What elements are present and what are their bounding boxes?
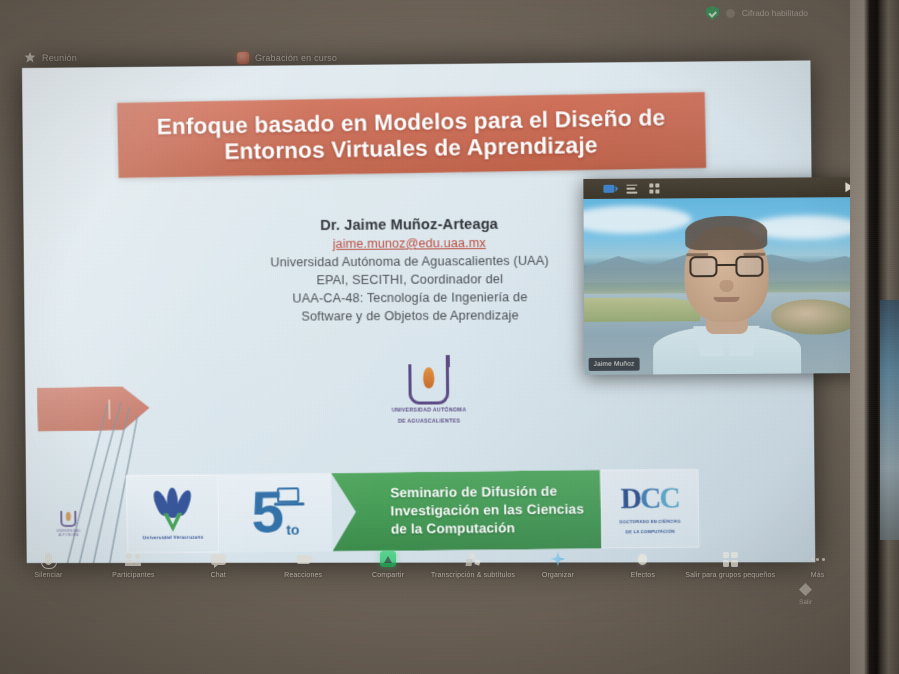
- dcc-letter-1: D: [620, 483, 640, 517]
- recording-label: Grabación en curso: [255, 53, 337, 63]
- toolbar-label-effects: Efectos: [631, 572, 655, 579]
- pip-toolbar: [583, 177, 867, 199]
- event-title-line-3: de la Computación: [391, 519, 585, 539]
- toolbar-label-transcription: Transcripción & subtítulos: [431, 572, 515, 579]
- author-name: Dr. Jaime Muñoz-Arteaga: [172, 216, 648, 235]
- universidad-veracruzana-logo: Universidad Veracruzana: [126, 474, 220, 553]
- uaa-logo-caption-1: UNIVERSIDAD AUTÓNOMA: [385, 407, 472, 415]
- toolbar-button-reactions[interactable]: Reacciones: [261, 550, 346, 579]
- slide-title-line-2: Entornos Virtuales de Aprendizaje: [224, 132, 598, 164]
- effects-icon: [638, 550, 647, 568]
- secure-label: Cifrado habilitado: [742, 8, 808, 18]
- camera-icon: [297, 550, 310, 568]
- meeting-star-icon: [24, 52, 36, 64]
- decorative-arrow-shape: [37, 386, 150, 432]
- toolbar-label-more: Más: [811, 572, 825, 579]
- fleur-de-lis-icon: [155, 488, 190, 532]
- toolbar-button-more[interactable]: Más: [775, 550, 860, 579]
- author-block: Dr. Jaime Muñoz-Arteaga jaime.munoz@edu.…: [172, 216, 649, 325]
- dcc-letter-3: C: [659, 482, 679, 516]
- toolbar-button-organize[interactable]: Organizar: [515, 550, 600, 579]
- uv-logo-caption: Universidad Veracruzana: [143, 535, 204, 541]
- edition-ordinal-suffix: to: [286, 522, 300, 538]
- microphone-icon: [45, 550, 52, 568]
- dcc-letter-2: C: [640, 483, 660, 517]
- author-email-link[interactable]: jaime.munoz@edu.uaa.mx: [172, 235, 648, 252]
- affiliation-line-1: Universidad Autónoma de Aguascalientes (…: [172, 253, 648, 270]
- participant-nametag: Jaime Muñoz: [589, 358, 640, 371]
- toolbar-label-share: Compartir: [372, 572, 404, 579]
- toolbar-label-reactions: Reacciones: [284, 572, 322, 579]
- dcc-logo: D C C DOCTORADO EN CIENCIAS DE LA COMPUT…: [600, 469, 700, 549]
- meeting-label: Reunión: [42, 53, 77, 63]
- webcam-pip-window[interactable]: Jaime Muñoz: [583, 177, 868, 375]
- share-screen-icon: [380, 550, 396, 568]
- meeting-toolbar: Silenciar Participantes Chat Reacciones …: [0, 550, 860, 602]
- event-banner: Universidad Veracruzana 5 to Seminario d…: [126, 469, 700, 554]
- laptop-icon: [277, 487, 299, 502]
- affiliation-line-3: UAA-CA-48: Tecnología de Ingeniería de: [173, 289, 649, 306]
- video-icon[interactable]: [603, 185, 614, 193]
- uaa-watermark-caption: UNIVERSIDAD AUTÓNOMA: [46, 529, 90, 537]
- glasses-icon: [689, 256, 763, 279]
- recording-status-chip[interactable]: Grabación en curso: [237, 52, 337, 64]
- shield-check-icon: [706, 6, 719, 20]
- meeting-status-chip[interactable]: Reunión: [24, 52, 77, 64]
- affiliation-line-4: Software y de Objetos de Aprendizaje: [173, 308, 649, 325]
- participants-icon: [125, 550, 141, 568]
- dcc-caption-line-1: DOCTORADO EN CIENCIAS: [620, 519, 681, 526]
- edition-number-block: 5 to: [218, 473, 332, 553]
- chat-icon: [211, 550, 226, 568]
- participant-figure: [648, 197, 804, 374]
- status-pill-icon: [726, 9, 735, 18]
- toolbar-button-effects[interactable]: Efectos: [600, 550, 685, 579]
- uaa-watermark-logo: UNIVERSIDAD AUTÓNOMA: [46, 511, 90, 537]
- event-title-line-2: Investigación en las Ciencias: [390, 500, 584, 520]
- dcc-letters: D C C: [620, 482, 679, 516]
- slide-title-banner: Enfoque basado en Modelos para el Diseño…: [117, 92, 706, 178]
- toolbar-label-breakout-rooms: Salir para grupos pequeños: [685, 572, 775, 579]
- leave-icon: [799, 583, 812, 596]
- zoom-app-window: Reunión Grabación en curso Cifrado habil…: [0, 0, 860, 640]
- uaa-emblem-icon: [408, 364, 449, 404]
- more-dots-icon: [811, 550, 825, 568]
- grid-icon[interactable]: [649, 183, 659, 193]
- event-title-line-1: Seminario de Difusión de: [390, 482, 584, 502]
- encryption-status-chip[interactable]: Cifrado habilitado: [706, 6, 808, 20]
- toolbar-button-participants[interactable]: Participantes: [91, 550, 176, 579]
- uaa-watermark-icon: [60, 511, 76, 527]
- toolbar-button-breakout-rooms[interactable]: Salir para grupos pequeños: [685, 550, 775, 579]
- participant-video-feed: Jaime Muñoz: [583, 197, 868, 375]
- uaa-logo-caption-2: DE AGUASCALIENTES: [386, 418, 473, 426]
- toolbar-button-share[interactable]: Compartir: [346, 550, 431, 579]
- toolbar-label-organize: Organizar: [542, 572, 574, 579]
- toolbar-label-participants: Participantes: [112, 572, 154, 579]
- affiliation-line-2: EPAI, SECITHI, Coordinador del: [172, 271, 648, 288]
- uaa-logo: UNIVERSIDAD AUTÓNOMA DE AGUASCALIENTES: [385, 364, 473, 426]
- toolbar-button-transcription[interactable]: Transcripción & subtítulos: [431, 550, 516, 579]
- recording-dot-icon: [237, 52, 249, 64]
- projected-screen-photo: Reunión Grabación en curso Cifrado habil…: [0, 0, 899, 674]
- bezel-reflection: [880, 300, 899, 540]
- participant-name: Jaime Muñoz: [594, 361, 635, 368]
- toolbar-button-mute[interactable]: Silenciar: [6, 550, 91, 579]
- apps-grid-icon: [723, 550, 738, 568]
- leave-meeting-button[interactable]: Salir: [799, 583, 812, 606]
- dcc-caption-line-2: DE LA COMPUTACIÓN: [626, 528, 675, 535]
- screen-bezel-edge: [850, 0, 899, 674]
- reaction-diamond-icon: [550, 550, 565, 568]
- toolbar-label-mute: Silenciar: [34, 572, 62, 579]
- toolbar-button-chat[interactable]: Chat: [176, 550, 261, 579]
- record-icon: [466, 550, 480, 568]
- toolbar-label-chat: Chat: [211, 572, 226, 579]
- list-icon[interactable]: [626, 184, 637, 193]
- leave-label: Salir: [799, 599, 812, 606]
- event-title-chevron: Seminario de Difusión de Investigación e…: [331, 470, 601, 551]
